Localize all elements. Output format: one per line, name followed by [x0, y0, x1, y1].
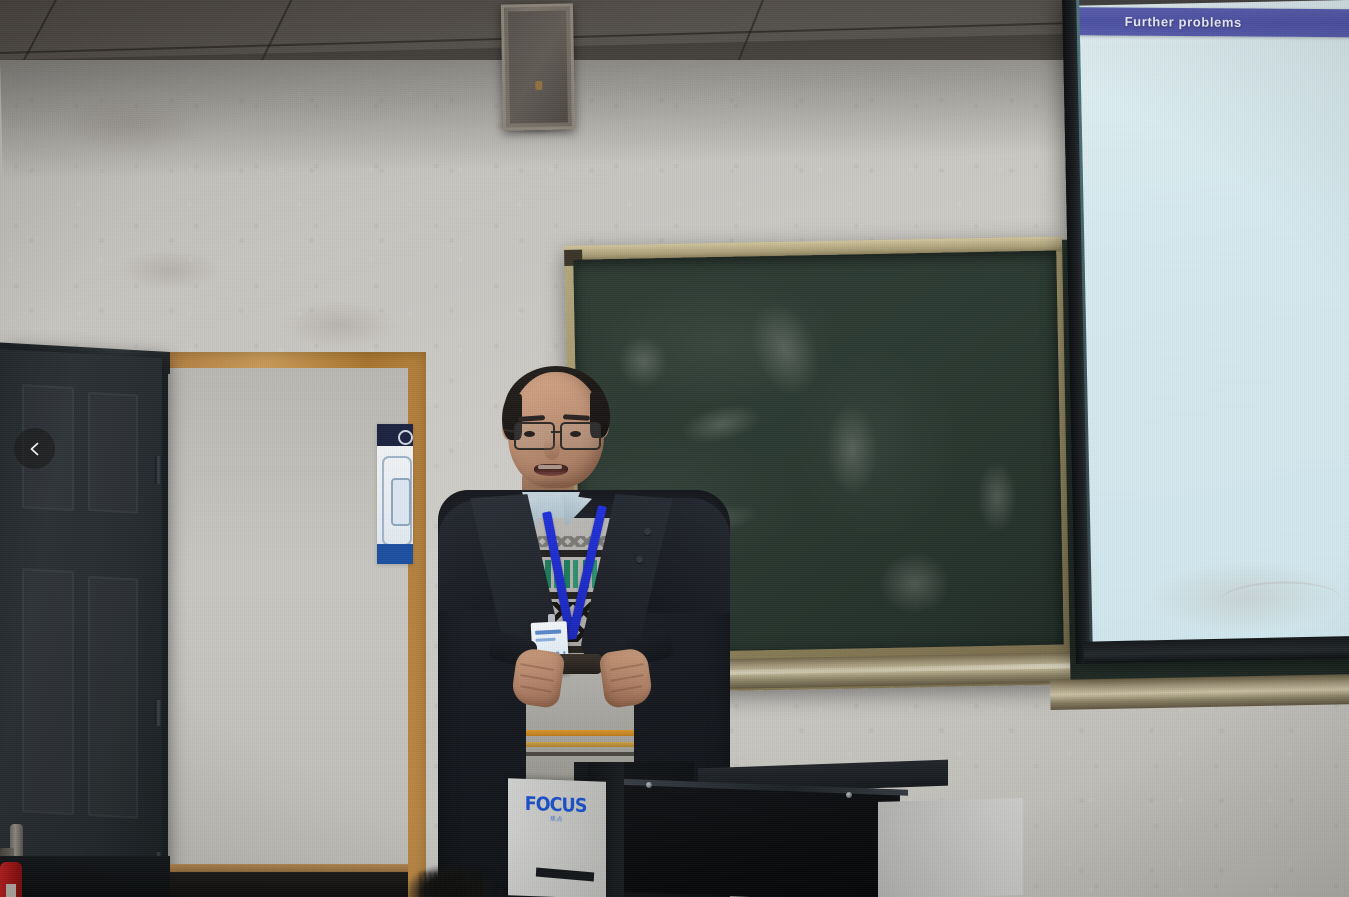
lectern-right-panel: [878, 798, 1023, 897]
lectern-screw: [646, 782, 652, 788]
presenter-chin-shadow: [526, 478, 578, 492]
fire-extinguisher-neck: [6, 884, 16, 897]
chalk-tray-extension: [1050, 674, 1349, 710]
chalk-smudge: [879, 553, 950, 614]
chevron-left-icon: [27, 441, 43, 457]
lectern-monitor-screen[interactable]: [600, 778, 900, 897]
exit-sign-header: [377, 424, 413, 446]
eyeglass-lens: [560, 422, 601, 450]
door-panel-inset: [22, 568, 74, 815]
presenter-nose: [544, 438, 560, 460]
jacket-button: [644, 528, 651, 535]
wall-smudge: [280, 300, 400, 350]
sweater-stripe: [526, 752, 634, 756]
wall-smudge: [120, 250, 220, 290]
presenter-eye: [570, 431, 581, 437]
chalk-smudge: [977, 461, 1016, 532]
projection-screen: Further problems: [1062, 0, 1349, 664]
door-hinge: [155, 456, 162, 484]
foreground-dark: [0, 856, 170, 897]
exit-sign-icon: [398, 430, 413, 445]
focus-brand-subtext: 焦点: [550, 814, 563, 823]
prev-image-button[interactable]: [14, 428, 55, 469]
floor-shadow: [168, 872, 408, 897]
speaker-screw: [535, 81, 542, 90]
door-panel-inset: [88, 576, 138, 819]
speaker-grille: [508, 11, 568, 124]
chalk-smudge: [826, 404, 878, 495]
presenter-eye: [524, 431, 535, 437]
badge-text-line: [535, 629, 561, 634]
badge-text-line: [535, 638, 555, 642]
wall-speaker: [501, 3, 575, 130]
lectern-screw: [846, 792, 852, 798]
lectern: FOCUS 焦点: [500, 762, 1030, 897]
eyeglass-bridge: [551, 431, 560, 433]
wall-smudge: [60, 95, 200, 155]
sweater-stripe: [526, 730, 634, 736]
slide-body: [1079, 40, 1349, 646]
presenter-teeth: [538, 465, 562, 469]
slide-title: Further problems: [1125, 14, 1242, 30]
exit-sign: [377, 424, 413, 564]
chalk-smudge: [740, 294, 830, 404]
exit-sign-footer: [377, 544, 413, 564]
jacket-button: [636, 556, 643, 563]
photo-canvas: Further problems: [0, 0, 1349, 897]
presentation-slide: Further problems: [1078, 0, 1349, 646]
exit-sign-graphic-inner: [391, 478, 411, 526]
door-hinge: [155, 700, 162, 726]
microphone-windscreen: [420, 872, 482, 897]
sweater-stripe: [526, 742, 634, 747]
door-panel-inset: [88, 392, 138, 514]
